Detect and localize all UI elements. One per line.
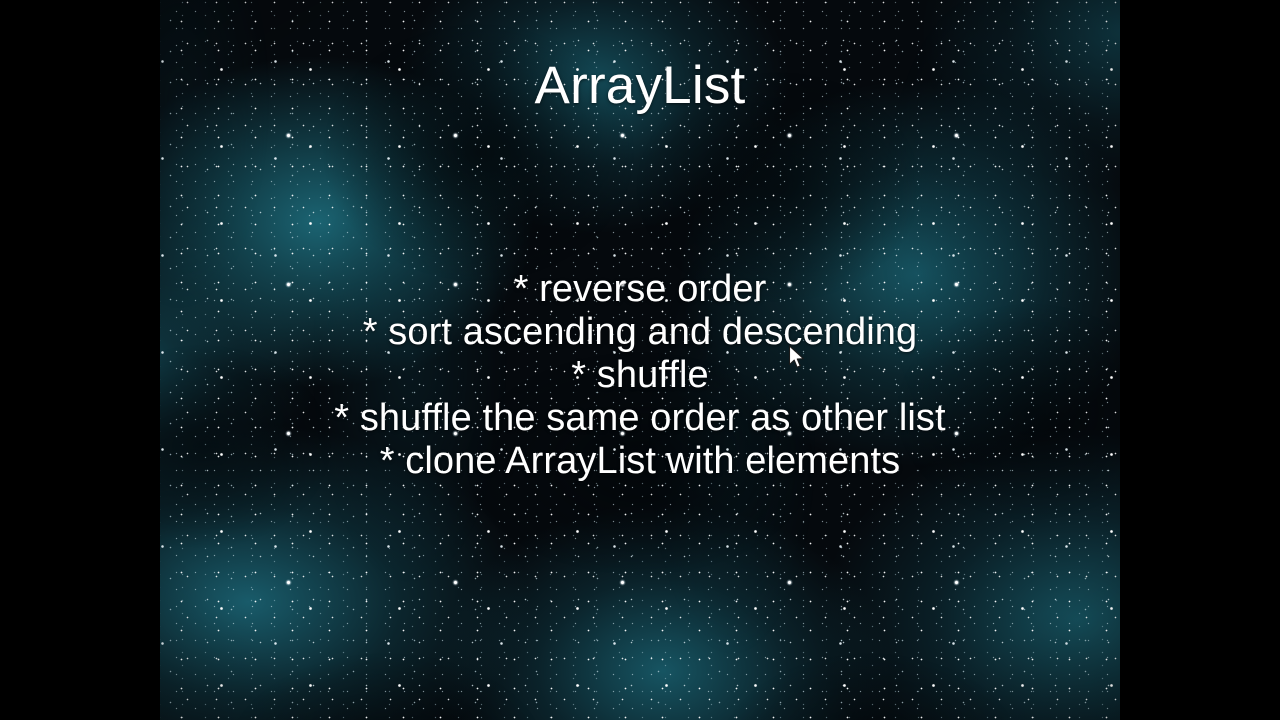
bullet-item-1: * reverse order bbox=[160, 268, 1120, 311]
bullet-item-5: * clone ArrayList with elements bbox=[160, 440, 1120, 483]
left-letterbox-bar bbox=[0, 0, 160, 720]
bullet-item-2: * sort ascending and descending bbox=[160, 311, 1120, 354]
slide-title: ArrayList bbox=[160, 58, 1120, 114]
bullet-item-3: * shuffle bbox=[160, 354, 1120, 397]
video-player-screen: ArrayList * reverse order * sort ascendi… bbox=[0, 0, 1280, 720]
right-letterbox-bar bbox=[1120, 0, 1280, 720]
slide-canvas: ArrayList * reverse order * sort ascendi… bbox=[160, 0, 1120, 720]
bullet-item-4: * shuffle the same order as other list bbox=[160, 397, 1120, 440]
slide-bullet-list: * reverse order * sort ascending and des… bbox=[160, 268, 1120, 483]
slide-text-layer: ArrayList * reverse order * sort ascendi… bbox=[160, 0, 1120, 720]
